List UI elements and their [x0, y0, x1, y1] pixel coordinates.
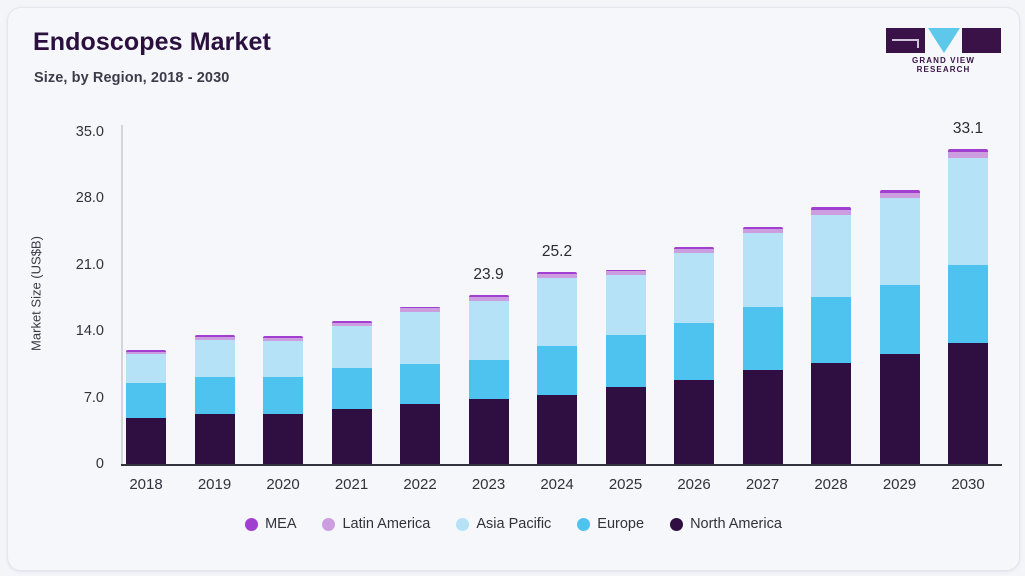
- bar-segment[interactable]: [606, 335, 646, 387]
- bar-segment[interactable]: [537, 274, 577, 278]
- bar-segment[interactable]: [606, 275, 646, 335]
- bar-segment[interactable]: [195, 414, 235, 464]
- bar-segment[interactable]: [126, 354, 166, 383]
- legend-item-label: Asia Pacific: [476, 516, 551, 532]
- bar-chart: Market Size (US$B) 07.014.021.028.035.0 …: [8, 8, 1019, 570]
- bar-segment[interactable]: [674, 247, 714, 249]
- bar-segment[interactable]: [811, 297, 851, 363]
- chart-card: Endoscopes Market Size, by Region, 2018 …: [7, 7, 1020, 571]
- bar-value-label: 23.9: [444, 266, 534, 284]
- bar-segment[interactable]: [195, 337, 235, 340]
- x-axis-tick-label: 2027: [728, 476, 798, 493]
- bar-segment[interactable]: [674, 249, 714, 254]
- bar-segment[interactable]: [195, 335, 235, 336]
- bar-segment[interactable]: [674, 380, 714, 464]
- bar-segment[interactable]: [880, 198, 920, 284]
- bar-segment[interactable]: [400, 404, 440, 464]
- bar-segment[interactable]: [674, 253, 714, 322]
- bar-segment[interactable]: [743, 307, 783, 370]
- bar-segment[interactable]: [469, 360, 509, 400]
- bar-segment[interactable]: [126, 418, 166, 464]
- y-axis-tick-label: 7.0: [42, 390, 104, 406]
- bar-segment[interactable]: [126, 350, 166, 351]
- legend-swatch-icon: [577, 518, 590, 531]
- x-axis-tick-label: 2022: [385, 476, 455, 493]
- bar-value-label: 33.1: [923, 120, 1013, 138]
- bar-segment[interactable]: [811, 207, 851, 209]
- bar-segment[interactable]: [400, 364, 440, 404]
- bar-segment[interactable]: [743, 229, 783, 234]
- bar-segment[interactable]: [743, 233, 783, 307]
- y-axis-title: Market Size (US$B): [29, 194, 44, 394]
- bar-segment[interactable]: [469, 295, 509, 297]
- legend-item-label: Europe: [597, 516, 644, 532]
- bar-segment[interactable]: [880, 285, 920, 354]
- bar-segment[interactable]: [880, 354, 920, 464]
- x-axis-tick-label: 2021: [317, 476, 387, 493]
- bar-segment[interactable]: [948, 149, 988, 152]
- bar-segment[interactable]: [332, 321, 372, 322]
- bar-segment[interactable]: [811, 363, 851, 464]
- bar-segment[interactable]: [948, 343, 988, 464]
- bar-segment[interactable]: [332, 323, 372, 326]
- bar-segment[interactable]: [811, 215, 851, 298]
- x-axis-tick-label: 2023: [454, 476, 524, 493]
- bar-segment[interactable]: [948, 152, 988, 158]
- bar-segment[interactable]: [195, 377, 235, 414]
- bar-segment[interactable]: [195, 340, 235, 377]
- bar-segment[interactable]: [263, 338, 303, 341]
- bar-segment[interactable]: [948, 265, 988, 343]
- bar-segment[interactable]: [469, 301, 509, 360]
- x-axis-tick-label: 2025: [591, 476, 661, 493]
- bar-segment[interactable]: [880, 193, 920, 199]
- bar-segment[interactable]: [674, 323, 714, 380]
- x-axis-tick-label: 2030: [933, 476, 1003, 493]
- bar-value-label: 25.2: [512, 243, 602, 261]
- bar-segment[interactable]: [263, 414, 303, 464]
- bar-segment[interactable]: [400, 312, 440, 364]
- legend-item[interactable]: Latin America: [322, 516, 430, 532]
- bar-segment[interactable]: [469, 399, 509, 464]
- bar-segment[interactable]: [948, 158, 988, 265]
- x-axis-tick-label: 2026: [659, 476, 729, 493]
- chart-legend: MEALatin AmericaAsia PacificEuropeNorth …: [8, 516, 1019, 532]
- bar-segment[interactable]: [263, 377, 303, 414]
- legend-swatch-icon: [245, 518, 258, 531]
- y-axis-tick-label: 28.0: [42, 190, 104, 206]
- legend-item-label: MEA: [265, 516, 296, 532]
- bar-segment[interactable]: [126, 383, 166, 417]
- bar-segment[interactable]: [606, 387, 646, 464]
- x-axis-tick-label: 2018: [111, 476, 181, 493]
- bar-segment[interactable]: [743, 370, 783, 464]
- x-axis-tick-label: 2019: [180, 476, 250, 493]
- legend-item[interactable]: MEA: [245, 516, 296, 532]
- bar-segment[interactable]: [400, 308, 440, 312]
- bar-segment[interactable]: [743, 227, 783, 229]
- x-axis-tick-label: 2028: [796, 476, 866, 493]
- bar-segment[interactable]: [332, 409, 372, 464]
- legend-item[interactable]: Europe: [577, 516, 644, 532]
- x-axis-tick-label: 2029: [865, 476, 935, 493]
- bar-segment[interactable]: [263, 336, 303, 337]
- bar-segment[interactable]: [606, 271, 646, 275]
- legend-item-label: North America: [690, 516, 782, 532]
- x-axis-line: [121, 464, 1002, 466]
- bar-segment[interactable]: [126, 352, 166, 354]
- x-axis-tick-label: 2024: [522, 476, 592, 493]
- bar-segment[interactable]: [880, 190, 920, 192]
- bar-segment[interactable]: [469, 297, 509, 301]
- bar-segment[interactable]: [332, 368, 372, 409]
- y-axis-tick-label: 21.0: [42, 257, 104, 273]
- bar-segment[interactable]: [263, 341, 303, 377]
- legend-item[interactable]: Asia Pacific: [456, 516, 551, 532]
- bar-segment[interactable]: [537, 272, 577, 274]
- legend-item[interactable]: North America: [670, 516, 782, 532]
- legend-swatch-icon: [456, 518, 469, 531]
- bar-segment[interactable]: [537, 395, 577, 464]
- y-axis-tick-label: 35.0: [42, 124, 104, 140]
- y-axis-tick-label: 14.0: [42, 323, 104, 339]
- bar-segment[interactable]: [332, 326, 372, 369]
- legend-item-label: Latin America: [342, 516, 430, 532]
- legend-swatch-icon: [670, 518, 683, 531]
- legend-swatch-icon: [322, 518, 335, 531]
- y-axis-line: [121, 125, 123, 465]
- x-axis-tick-label: 2020: [248, 476, 318, 493]
- bar-segment[interactable]: [537, 346, 577, 394]
- bar-segment[interactable]: [811, 210, 851, 215]
- bar-segment[interactable]: [537, 278, 577, 346]
- y-axis-tick-label: 0: [42, 456, 104, 472]
